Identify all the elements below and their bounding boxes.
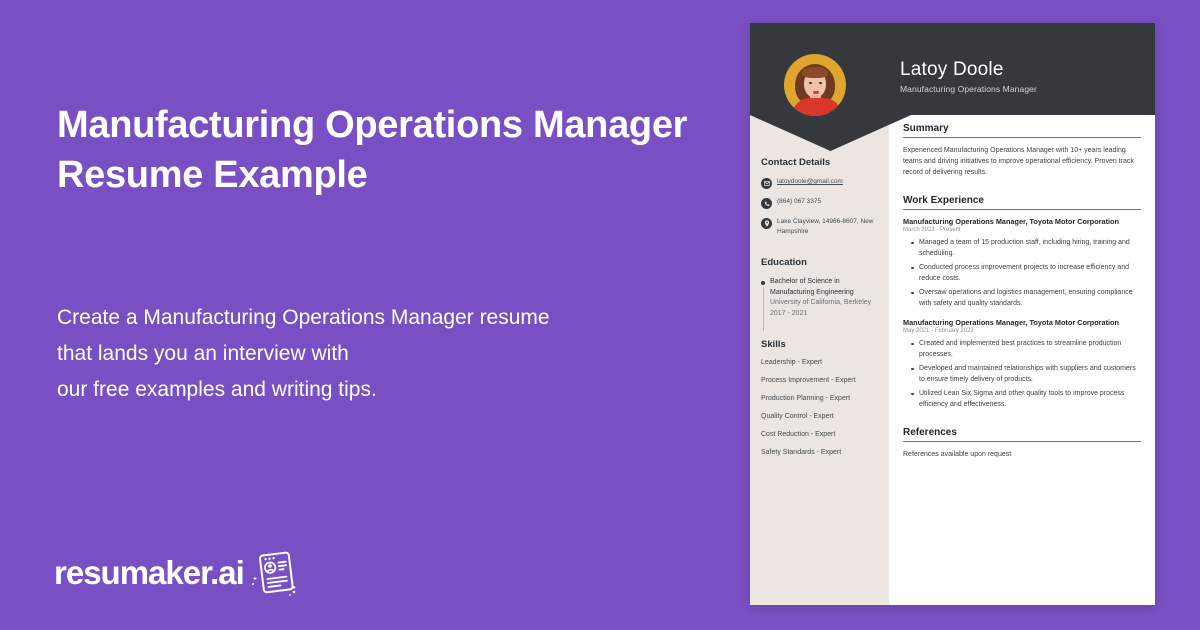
contact-email[interactable]: latoydoole@gmail.com bbox=[761, 177, 878, 189]
job-dates: March 2023 - Present bbox=[903, 227, 1141, 233]
job-title: Manufacturing Operations Manager, Toyota… bbox=[903, 217, 1141, 226]
document-profile-icon bbox=[250, 548, 298, 598]
education-school: University of California, Berkeley bbox=[770, 299, 871, 306]
contact-address: Lake Clayview, 14966-8607, New Hampshire bbox=[761, 217, 878, 237]
logo-wordmark: resumaker.ai bbox=[54, 554, 244, 592]
job-bullet: Oversaw operations and logistics managem… bbox=[903, 287, 1141, 309]
contact-address-text: Lake Clayview, 14966-8607, New Hampshire bbox=[777, 217, 878, 237]
education-dates: 2017 - 2021 bbox=[770, 310, 807, 317]
job-bullet: Developed and maintained relationships w… bbox=[903, 363, 1141, 385]
job-bullet: Conducted process improvement projects t… bbox=[903, 262, 1141, 284]
skill-item: Safety Standards - Expert bbox=[761, 449, 878, 456]
summary-heading: Summary bbox=[903, 123, 1141, 138]
skill-item: Quality Control - Expert bbox=[761, 413, 878, 420]
work-experience-heading: Work Experience bbox=[903, 195, 1141, 210]
education-degree: Bachelor of Science in Manufacturing Eng… bbox=[770, 278, 854, 296]
location-pin-icon bbox=[761, 218, 772, 229]
references-text: References available upon request bbox=[903, 449, 1141, 460]
contact-email-text: latoydoole@gmail.com bbox=[777, 177, 843, 187]
job-bullet: Utilized Lean Six Sigma and other qualit… bbox=[903, 388, 1141, 410]
job-bullet-list: Managed a team of 15 production staff, i… bbox=[903, 237, 1141, 309]
resume-candidate-role: Manufacturing Operations Manager bbox=[900, 84, 1037, 94]
skill-item: Process Improvement - Expert bbox=[761, 377, 878, 384]
timeline-bullet-icon bbox=[761, 281, 765, 285]
avatar bbox=[784, 54, 846, 116]
work-experience-entry: Manufacturing Operations Manager, Toyota… bbox=[903, 318, 1141, 410]
promo-panel: Manufacturing Operations Manager Resume … bbox=[0, 0, 750, 630]
page-title: Manufacturing Operations Manager Resume … bbox=[57, 100, 727, 200]
resume-candidate-name: Latoy Doole bbox=[900, 59, 1004, 81]
contact-phone[interactable]: (864) 067 3375 bbox=[761, 197, 878, 209]
skill-item: Production Planning - Expert bbox=[761, 395, 878, 402]
summary-text: Experienced Manufacturing Operations Man… bbox=[903, 145, 1141, 178]
skill-item: Cost Reduction - Expert bbox=[761, 431, 878, 438]
job-bullet-list: Created and implemented best practices t… bbox=[903, 338, 1141, 410]
skill-item: Leadership - Expert bbox=[761, 359, 878, 366]
job-dates: May 2021 - February 2023 bbox=[903, 328, 1141, 334]
phone-icon bbox=[761, 198, 772, 209]
contact-details-heading: Contact Details bbox=[761, 157, 878, 168]
resume-preview-card[interactable]: Latoy Doole Manufacturing Operations Man… bbox=[750, 23, 1155, 605]
envelope-icon bbox=[761, 178, 772, 189]
job-title: Manufacturing Operations Manager, Toyota… bbox=[903, 318, 1141, 327]
education-heading: Education bbox=[761, 257, 878, 268]
work-experience-entry: Manufacturing Operations Manager, Toyota… bbox=[903, 217, 1141, 309]
education-item: Bachelor of Science in Manufacturing Eng… bbox=[761, 277, 878, 319]
job-bullet: Created and implemented best practices t… bbox=[903, 338, 1141, 360]
references-heading: References bbox=[903, 427, 1141, 442]
promo-subtitle: Create a Manufacturing Operations Manage… bbox=[57, 300, 737, 408]
resumaker-logo[interactable]: resumaker.ai bbox=[54, 548, 298, 598]
job-bullet: Managed a team of 15 production staff, i… bbox=[903, 237, 1141, 259]
contact-phone-text: (864) 067 3375 bbox=[777, 197, 821, 207]
skills-heading: Skills bbox=[761, 339, 878, 350]
